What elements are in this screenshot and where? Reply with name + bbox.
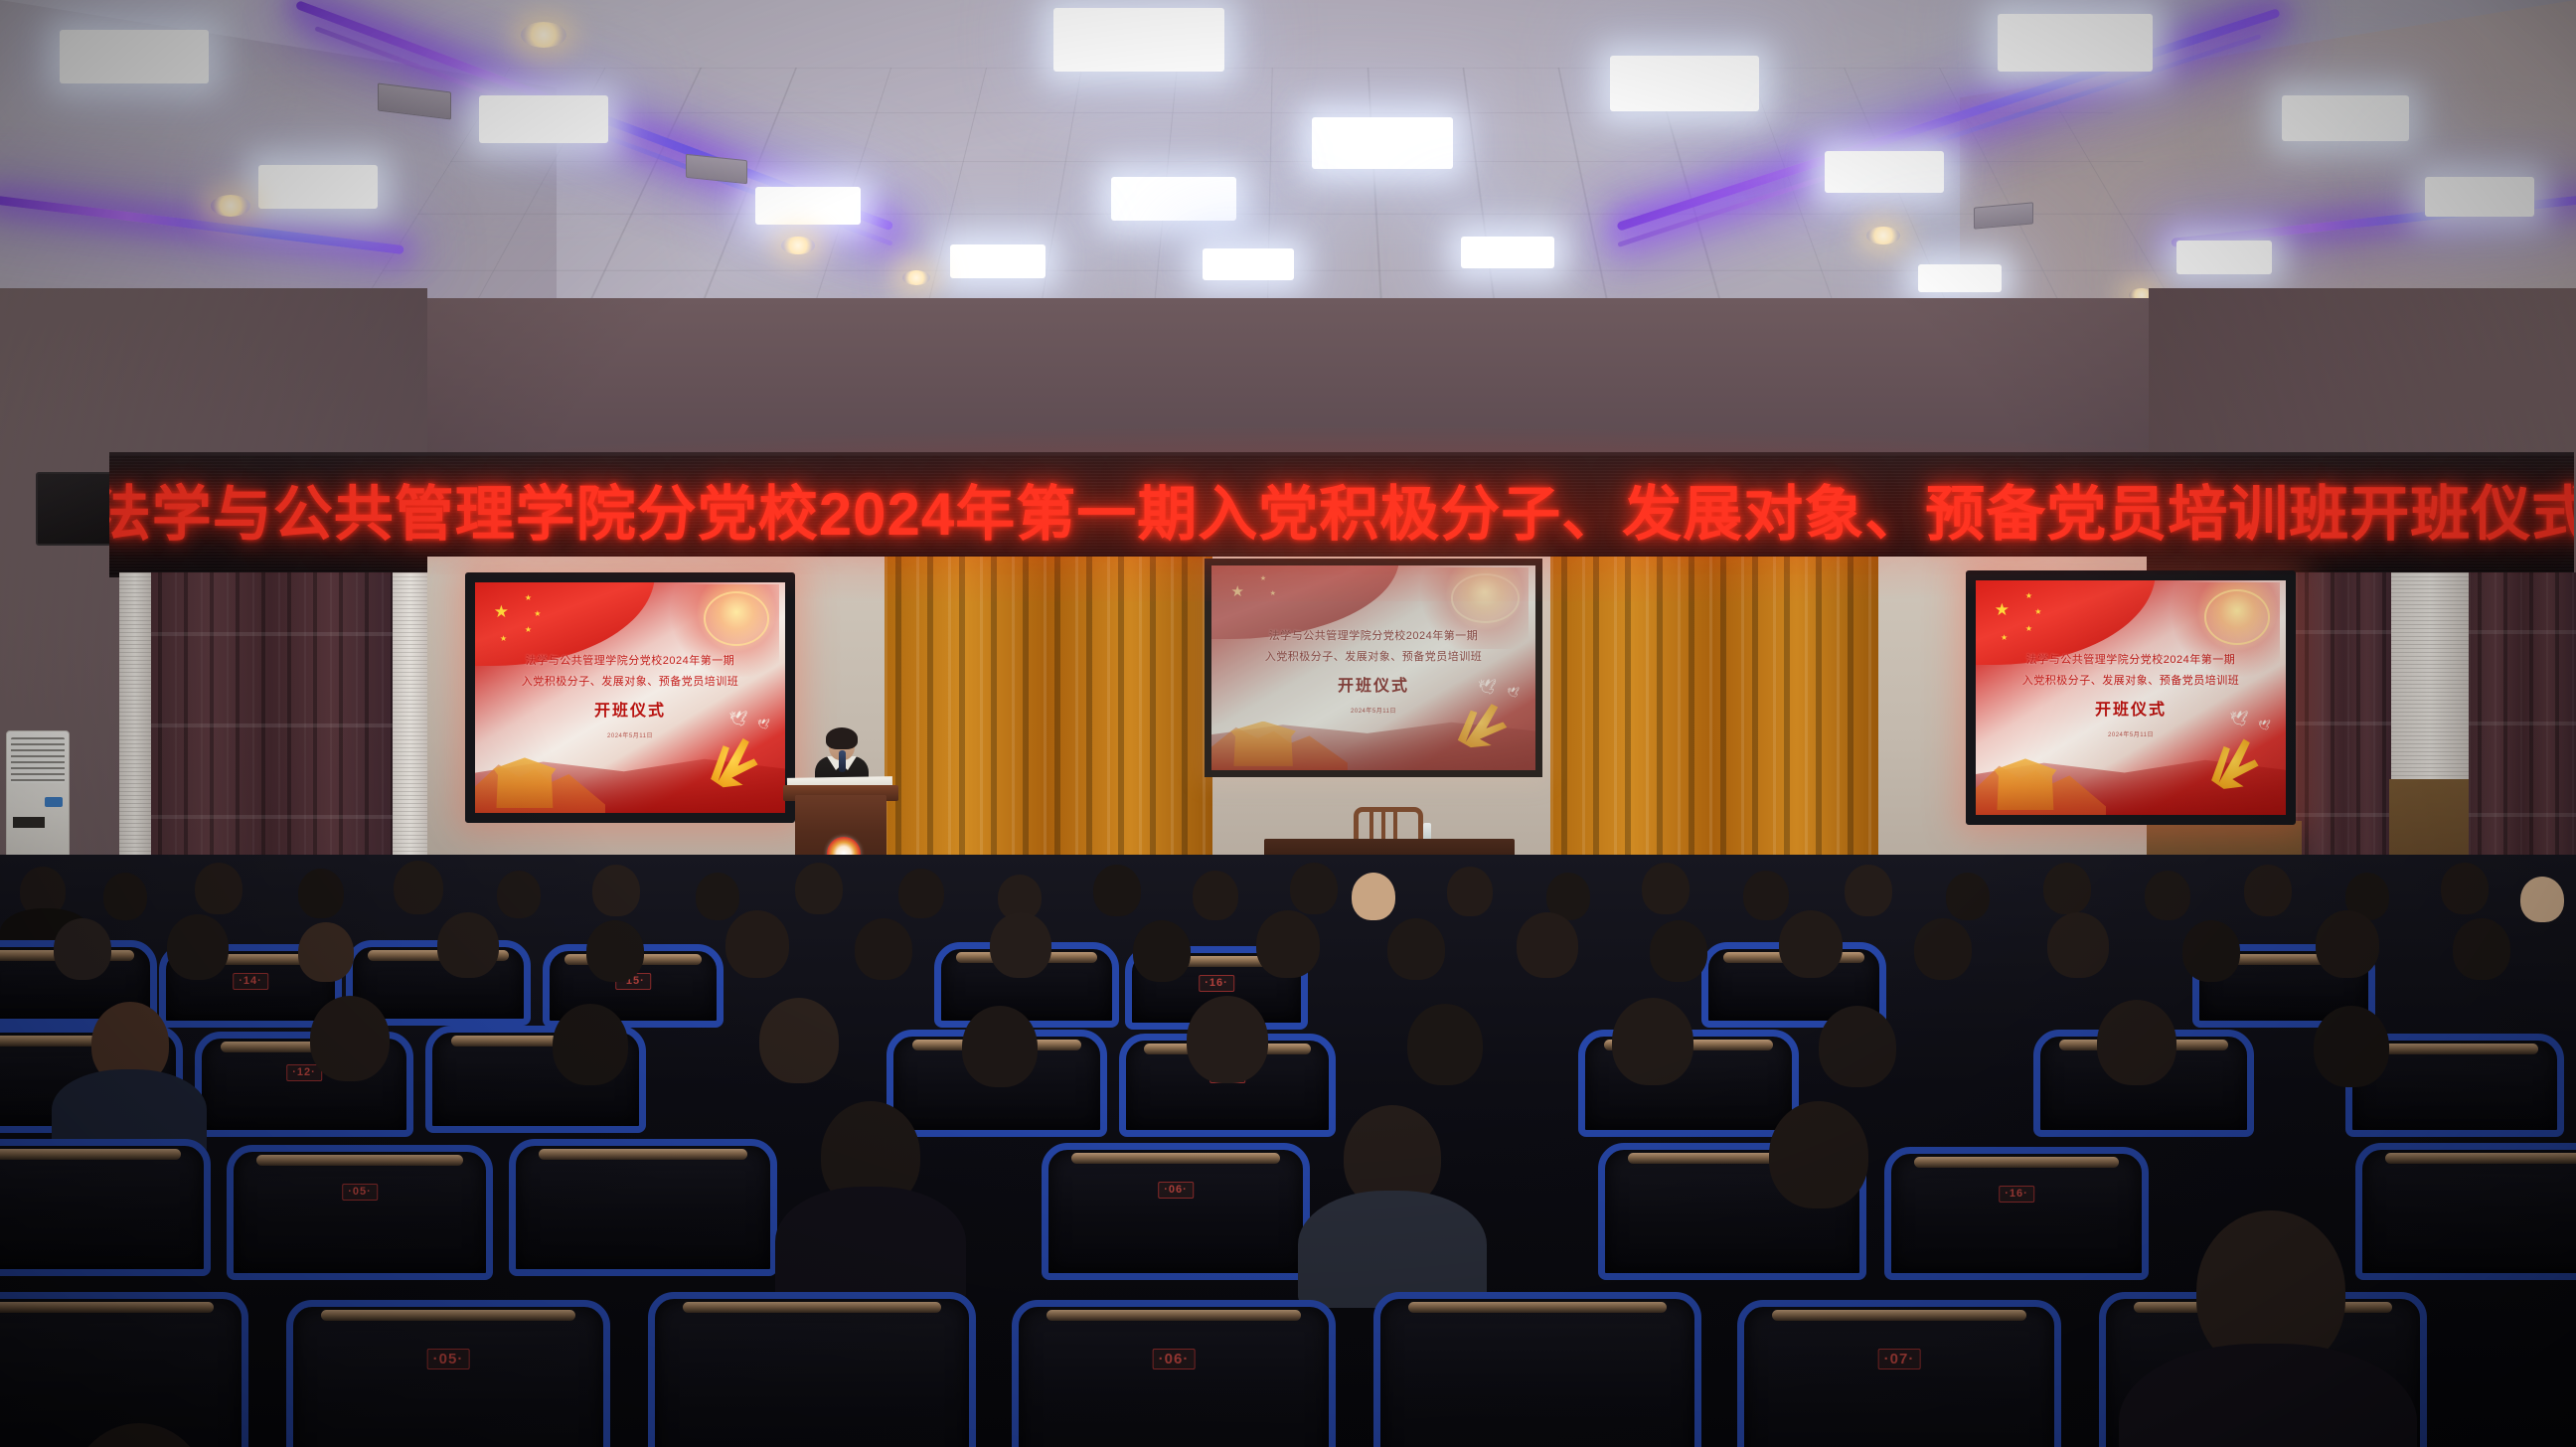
- flag-star-icon: ★: [494, 603, 509, 620]
- audience-head: [394, 861, 443, 914]
- seat-number-plate: ·07·: [1878, 1349, 1921, 1369]
- ceiling-panel-light: [1610, 56, 1759, 111]
- light-ring-decor: [1451, 573, 1520, 622]
- flag-star-icon: ★: [1260, 575, 1266, 582]
- wall-speaker-left: [36, 472, 119, 546]
- seat-number-plate: ·05·: [342, 1184, 378, 1201]
- ceiling-panel-light: [1312, 117, 1453, 169]
- auditorium-photo: 法学与公共管理学院分党校2024年第一期入党积极分子、发展对象、预备党员培训班开…: [0, 0, 2576, 1447]
- audience-head: [855, 918, 912, 980]
- stage-curtain-left: [885, 557, 1212, 884]
- flag-star-icon: ★: [525, 594, 532, 602]
- chair-slat: [1369, 811, 1373, 841]
- ceiling-panel-light: [950, 244, 1046, 278]
- curtain-band: [149, 815, 393, 819]
- curtain-band: [2296, 722, 2391, 725]
- audience-head: [2047, 912, 2109, 978]
- wall-pillar-left: [119, 572, 151, 871]
- ceiling-panel-light: [1825, 151, 1944, 193]
- seat-number-plate: ·06·: [1153, 1349, 1196, 1369]
- ceiling-panel-light: [258, 165, 378, 209]
- curtain-band: [2296, 813, 2391, 817]
- downlight: [211, 195, 250, 217]
- audience-head: [759, 998, 839, 1083]
- slide-line-3: 开班仪式: [1211, 672, 1535, 696]
- curtain-right-outer: [2469, 572, 2576, 871]
- audience-head: [2441, 863, 2489, 914]
- seat-number-plate: ·05·: [427, 1349, 470, 1369]
- ac-display-panel: [13, 817, 45, 828]
- audience-head: [2097, 1000, 2176, 1085]
- auditorium-seat[interactable]: [509, 1139, 777, 1276]
- audience-head: [2316, 910, 2379, 978]
- audience-head: [1612, 998, 1693, 1085]
- flag-star-icon: ★: [2025, 625, 2032, 633]
- audience-head: [54, 918, 111, 980]
- audience-head: [898, 869, 944, 918]
- ceiling-panel-light: [1111, 177, 1236, 221]
- speaker-hair: [826, 727, 858, 749]
- audience-head: [1352, 873, 1395, 920]
- ceiling-panel-light: [479, 95, 608, 143]
- slide-line-1: 法学与公共管理学院分党校2024年第一期: [1211, 627, 1535, 643]
- audience-head: [1133, 920, 1191, 982]
- audience-head: [1193, 871, 1238, 920]
- flag-star-icon: ★: [534, 610, 541, 618]
- seat-number-plate: ·16·: [1199, 975, 1234, 992]
- slide-left: ★ ★ ★ ★ ★ 法学与公共管理学院分党校2024年第一期 入党积极分子、发展…: [475, 582, 785, 813]
- left-led-screen: ★ ★ ★ ★ ★ 法学与公共管理学院分党校2024年第一期 入党积极分子、发展…: [465, 572, 795, 823]
- ceiling-panel-light: [2176, 241, 2272, 274]
- slide-right: ★ ★ ★ ★ ★ 法学与公共管理学院分党校2024年第一期 入党积极分子、发展…: [1976, 580, 2286, 815]
- audience-head: [553, 1004, 628, 1085]
- audience-head: [1447, 867, 1493, 916]
- slide-line-2: 入党积极分子、发展对象、预备党员培训班: [1211, 648, 1535, 664]
- auditorium-seat[interactable]: ·07·: [1737, 1300, 2061, 1447]
- slide-line-1: 法学与公共管理学院分党校2024年第一期: [475, 652, 785, 668]
- ceiling-panel-light: [1461, 237, 1554, 268]
- audience-head: [2043, 863, 2091, 914]
- audience-head: [1290, 863, 1338, 914]
- slide-text-block: 法学与公共管理学院分党校2024年第一期 入党积极分子、发展对象、预备党员培训班…: [475, 652, 785, 739]
- downlight: [521, 22, 566, 48]
- wall-pillar-left-inner: [393, 572, 428, 871]
- audience-head: [1946, 873, 1990, 920]
- audience-area: ·14· ·15· ·16· ·12· ·13·: [0, 855, 2576, 1447]
- audience-head: [195, 863, 242, 914]
- seat-number-plate: ·12·: [286, 1064, 322, 1081]
- audience-head: [167, 914, 229, 980]
- slide-text-block: 法学与公共管理学院分党校2024年第一期 入党积极分子、发展对象、预备党员培训班…: [1211, 627, 1535, 715]
- audience-head: [298, 922, 354, 982]
- curtain-band: [2296, 630, 2391, 634]
- curtain-band: [2469, 813, 2576, 817]
- audience-head: [962, 1006, 1038, 1087]
- slide-center: ★ ★ ★ 法学与公共管理学院分党校2024年第一期 入党积极分子、发展对象、预…: [1211, 565, 1535, 770]
- auditorium-seat[interactable]: [1373, 1292, 1701, 1447]
- audience-head: [2520, 877, 2564, 922]
- audience-head: [1819, 1006, 1896, 1087]
- ceiling-panel-light: [1998, 14, 2153, 72]
- auditorium-seat[interactable]: ·06·: [1012, 1300, 1336, 1447]
- audience-head: [2453, 918, 2510, 980]
- chair-slat: [1381, 811, 1385, 841]
- slide-line-2: 入党积极分子、发展对象、预备党员培训班: [1976, 672, 2286, 688]
- ceiling-panel-light: [1918, 264, 2002, 292]
- downlight: [781, 237, 815, 254]
- audience-head: [2182, 920, 2240, 982]
- audience-head: [298, 869, 344, 918]
- right-led-screen: ★ ★ ★ ★ ★ 法学与公共管理学院分党校2024年第一期 入党积极分子、发展…: [1966, 570, 2296, 825]
- audience-head: [795, 863, 843, 914]
- audience-head: [1743, 871, 1789, 920]
- audience-head: [1387, 918, 1445, 980]
- slide-line-3: 开班仪式: [475, 697, 785, 721]
- curtain-right-inner: [2296, 572, 2391, 871]
- led-banner-text: 法学与公共管理学院分党校2024年第一期入党积极分子、发展对象、预备党员培训班开…: [109, 485, 2574, 545]
- slide-date: 2024年5月11日: [1976, 729, 2286, 738]
- audience-head: [2244, 865, 2292, 916]
- audience-head: [310, 996, 390, 1081]
- flag-star-icon: ★: [2034, 608, 2041, 616]
- ceiling-panel-light: [60, 30, 209, 83]
- ceiling-panel-light: [2425, 177, 2534, 217]
- audience-head: [2145, 871, 2190, 920]
- curtain-band: [2469, 630, 2576, 634]
- curtain-band: [2469, 722, 2576, 725]
- ceiling-panel-light: [1203, 248, 1294, 280]
- slide-line-3: 开班仪式: [1976, 696, 2286, 720]
- projection-surface: ★ ★ ★ 法学与公共管理学院分党校2024年第一期 入党积极分子、发展对象、预…: [1211, 565, 1535, 770]
- seat-number-plate: ·06·: [1158, 1182, 1194, 1199]
- flag-star-icon: ★: [500, 635, 507, 643]
- auditorium-seat[interactable]: [0, 1139, 211, 1276]
- microphone-icon: [839, 750, 846, 772]
- audience-head: [725, 910, 789, 978]
- slide-text-block: 法学与公共管理学院分党校2024年第一期 入党积极分子、发展对象、预备党员培训班…: [1976, 651, 2286, 738]
- flag-star-icon: ★: [1995, 601, 2010, 618]
- stage-curtain-right: [1550, 557, 1878, 884]
- ac-grill: [11, 737, 65, 783]
- auditorium-seat[interactable]: ·06·: [1042, 1143, 1310, 1280]
- audience-head: [1517, 912, 1578, 978]
- audience-head: [497, 871, 541, 918]
- auditorium-seat[interactable]: [648, 1292, 976, 1447]
- audience-head: [1650, 920, 1707, 982]
- chair-slat: [1393, 811, 1397, 841]
- slide-date: 2024年5月11日: [1211, 706, 1535, 715]
- auditorium-seat[interactable]: ·05·: [286, 1300, 610, 1447]
- downlight: [902, 270, 930, 285]
- audience-head: [1407, 1004, 1483, 1085]
- auditorium-seat[interactable]: [2355, 1143, 2576, 1280]
- seat-number-plate: ·16·: [1999, 1186, 2034, 1203]
- audience-head: [103, 873, 147, 920]
- audience-head: [1845, 865, 1892, 916]
- ceiling-panel-light: [1053, 8, 1224, 72]
- seat-number-plate: ·14·: [233, 973, 268, 990]
- flag-star-icon: ★: [2001, 634, 2008, 642]
- curtain-band: [149, 632, 393, 636]
- audience-head: [1256, 910, 1320, 978]
- audience-head: [1914, 918, 1972, 980]
- audience-head: [1642, 863, 1690, 914]
- slide-line-1: 法学与公共管理学院分党校2024年第一期: [1976, 651, 2286, 667]
- audience-shoulders: [1298, 1191, 1487, 1308]
- auditorium-seat[interactable]: ·16·: [1884, 1147, 2149, 1280]
- slide-line-2: 入党积极分子、发展对象、预备党员培训班: [475, 673, 785, 689]
- ceiling-panel-light: [755, 187, 861, 225]
- flag-star-icon: ★: [525, 626, 532, 634]
- flag-star-icon: ★: [1270, 590, 1276, 597]
- audience-head: [1187, 996, 1268, 1083]
- flag-star-icon: ★: [2025, 592, 2032, 600]
- downlight: [1866, 227, 1900, 244]
- audience-head: [696, 873, 739, 920]
- audience-head: [2314, 1006, 2389, 1087]
- audience-shoulders: [775, 1187, 966, 1306]
- slide-date: 2024年5月11日: [475, 730, 785, 739]
- curtain-band: [149, 723, 393, 727]
- ac-badge: [45, 797, 63, 807]
- audience-head: [1093, 865, 1141, 916]
- center-projection: ★ ★ ★ 法学与公共管理学院分党校2024年第一期 入党积极分子、发展对象、预…: [1205, 559, 1542, 777]
- audience-head: [437, 912, 499, 978]
- audience-head: [586, 920, 644, 982]
- auditorium-seat[interactable]: ·05·: [227, 1145, 493, 1280]
- audience-head: [990, 912, 1051, 978]
- ceiling-panel-light: [2282, 95, 2409, 141]
- audience-head: [1779, 910, 1843, 978]
- flag-star-icon: ★: [1231, 584, 1244, 599]
- audience-head: [592, 865, 640, 916]
- curtain-left: [149, 572, 393, 871]
- audience-head: [1769, 1101, 1868, 1208]
